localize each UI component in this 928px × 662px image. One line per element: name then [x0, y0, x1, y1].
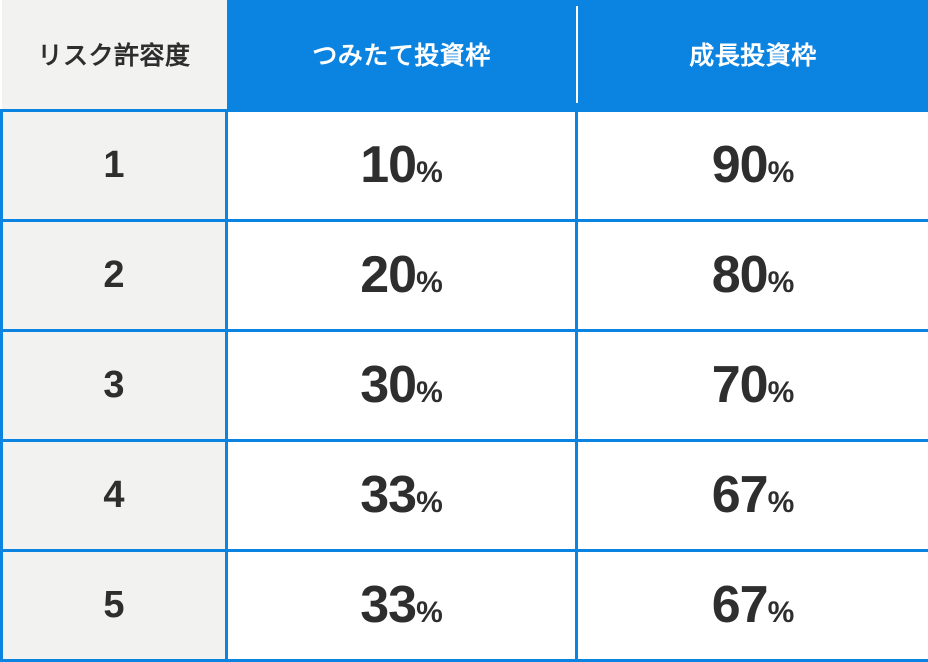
cell-growth-percent: 90% — [577, 110, 928, 220]
percent-symbol: % — [416, 266, 443, 299]
percent-value: 70% — [712, 359, 795, 411]
cell-risk-level: 4 — [2, 440, 227, 550]
percent-value: 67% — [712, 579, 795, 631]
cell-risk-level: 2 — [2, 220, 227, 330]
cell-risk-level: 1 — [2, 110, 227, 220]
column-header-tsumitate-quota: つみたて投資枠 — [227, 0, 577, 110]
table-row: 1 10% 90% — [2, 110, 928, 220]
percent-symbol: % — [416, 486, 443, 519]
table-row: 2 20% 80% — [2, 220, 928, 330]
percent-value: 30% — [360, 359, 443, 411]
cell-growth-percent: 80% — [577, 220, 928, 330]
table-body: 1 10% 90% 2 20% — [2, 110, 928, 660]
column-header-risk-tolerance: リスク許容度 — [2, 0, 227, 110]
percent-symbol: % — [416, 156, 443, 189]
percent-value: 67% — [712, 469, 795, 521]
percent-number: 20 — [360, 246, 416, 304]
table-row: 5 33% 67% — [2, 550, 928, 660]
cell-tsumitate-percent: 33% — [227, 440, 577, 550]
percent-value: 80% — [712, 249, 795, 301]
column-header-growth-quota: 成長投資枠 — [577, 0, 928, 110]
percent-number: 67 — [712, 576, 768, 634]
percent-value: 90% — [712, 139, 795, 191]
table-row: 3 30% 70% — [2, 330, 928, 440]
percent-value: 10% — [360, 139, 443, 191]
percent-number: 90 — [712, 136, 768, 194]
percent-number: 67 — [712, 466, 768, 524]
cell-growth-percent: 67% — [577, 440, 928, 550]
allocation-table-container: リスク許容度 つみたて投資枠 成長投資枠 1 10% 90% — [0, 0, 928, 662]
cell-risk-level: 5 — [2, 550, 227, 660]
cell-tsumitate-percent: 10% — [227, 110, 577, 220]
percent-number: 30 — [360, 356, 416, 414]
table-header: リスク許容度 つみたて投資枠 成長投資枠 — [2, 0, 928, 110]
percent-symbol: % — [768, 156, 795, 189]
percent-number: 80 — [712, 246, 768, 304]
percent-symbol: % — [768, 266, 795, 299]
cell-growth-percent: 67% — [577, 550, 928, 660]
percent-symbol: % — [416, 596, 443, 629]
percent-value: 33% — [360, 579, 443, 631]
percent-number: 70 — [712, 356, 768, 414]
percent-number: 33 — [360, 466, 416, 524]
risk-allocation-table: リスク許容度 つみたて投資枠 成長投資枠 1 10% 90% — [0, 0, 928, 662]
cell-risk-level: 3 — [2, 330, 227, 440]
cell-tsumitate-percent: 33% — [227, 550, 577, 660]
percent-symbol: % — [768, 376, 795, 409]
percent-number: 33 — [360, 576, 416, 634]
header-row: リスク許容度 つみたて投資枠 成長投資枠 — [2, 0, 928, 110]
percent-symbol: % — [768, 596, 795, 629]
percent-symbol: % — [416, 376, 443, 409]
percent-value: 33% — [360, 469, 443, 521]
cell-tsumitate-percent: 20% — [227, 220, 577, 330]
cell-growth-percent: 70% — [577, 330, 928, 440]
percent-symbol: % — [768, 486, 795, 519]
cell-tsumitate-percent: 30% — [227, 330, 577, 440]
percent-value: 20% — [360, 249, 443, 301]
percent-number: 10 — [360, 136, 416, 194]
table-row: 4 33% 67% — [2, 440, 928, 550]
